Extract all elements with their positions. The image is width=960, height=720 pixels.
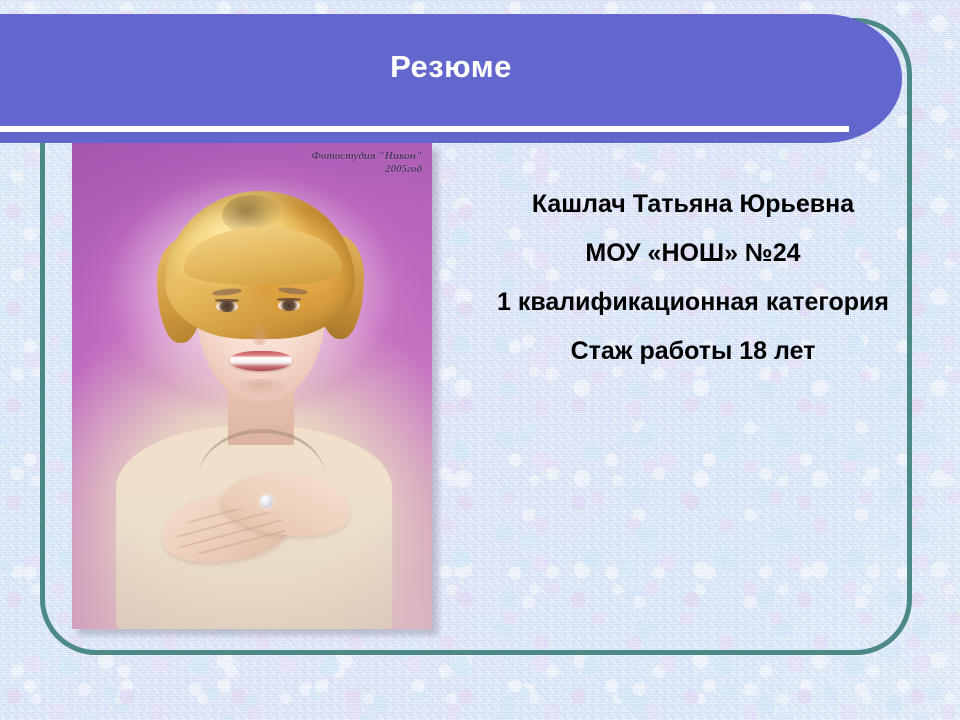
photo-vignette [72,143,432,629]
resume-info-block: Кашлач Татьяна Юрьевна МОУ «НОШ» №24 1 к… [488,188,898,367]
photo-watermark-studio: Фотостудия "Никон" [272,150,422,163]
resume-line-experience: Стаж работы 18 лет [488,335,898,367]
title-banner: Резюме [0,14,902,143]
slide-title: Резюме [0,14,902,120]
portrait-photo: Фотостудия "Никон" 2005год [72,143,432,629]
resume-line-school: МОУ «НОШ» №24 [488,237,898,269]
photo-watermark: Фотостудия "Никон" 2005год [272,150,422,176]
resume-line-category: 1 квалификационная категория [488,286,898,318]
photo-watermark-year: 2005год [272,163,422,176]
resume-line-name: Кашлач Татьяна Юрьевна [488,188,898,220]
presentation-slide: Резюме Фотостудия "Никон" 2005год [0,0,960,720]
title-underline-rule [0,126,849,132]
